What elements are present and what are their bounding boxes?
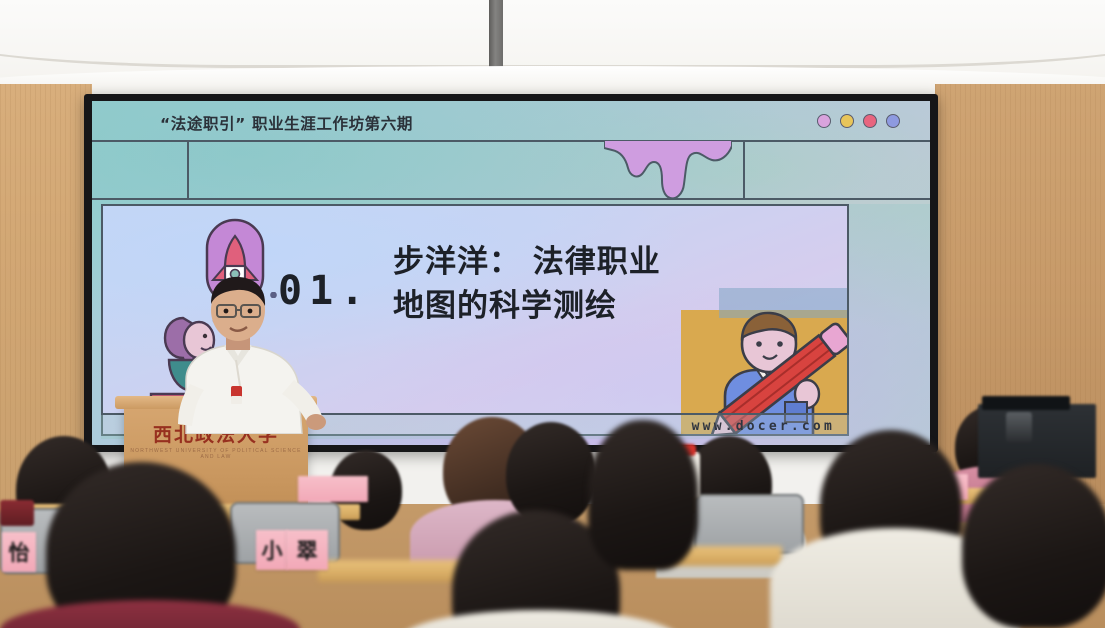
namecard-cui: 翠 xyxy=(286,530,328,570)
slide-watermark: www.docer.com xyxy=(692,419,835,434)
av-cylinder-unit xyxy=(1006,412,1032,442)
slide-right-column xyxy=(849,204,930,445)
namecard-blank-left xyxy=(298,476,368,502)
slide-header-dots xyxy=(817,114,900,128)
dot-yellow-icon xyxy=(840,114,854,128)
audience-head-foreground xyxy=(962,464,1105,628)
slide-divider-band xyxy=(92,142,930,200)
slide-title-line-1: 步洋洋： 法律职业 xyxy=(393,240,823,284)
drink-cup xyxy=(0,500,34,526)
slide-divider-left xyxy=(187,142,189,198)
slide-divider-right xyxy=(743,142,745,198)
namecard-yi: 怡 xyxy=(2,532,36,572)
dot-purple-icon xyxy=(817,114,831,128)
dot-pink-icon xyxy=(863,114,877,128)
podium-institution-subtext: NORTHWEST UNIVERSITY OF POLITICAL SCIENC… xyxy=(124,448,308,460)
speaker-presenter xyxy=(176,274,326,434)
dot-blue-icon xyxy=(886,114,900,128)
slide-header-title: “法途职引” 职业生涯工作坊第六期 xyxy=(160,112,413,134)
av-mixer xyxy=(982,396,1070,410)
lecture-hall-photo: “法途职引” 职业生涯工作坊第六期 xyxy=(0,0,1105,628)
slide-header-band: “法途职引” 职业生涯工作坊第六期 xyxy=(92,101,930,142)
namecard-xiao: 小 xyxy=(256,530,288,570)
chair-back xyxy=(694,494,804,554)
audience-head-foreground xyxy=(588,420,698,570)
paint-drip-icon xyxy=(604,140,732,202)
